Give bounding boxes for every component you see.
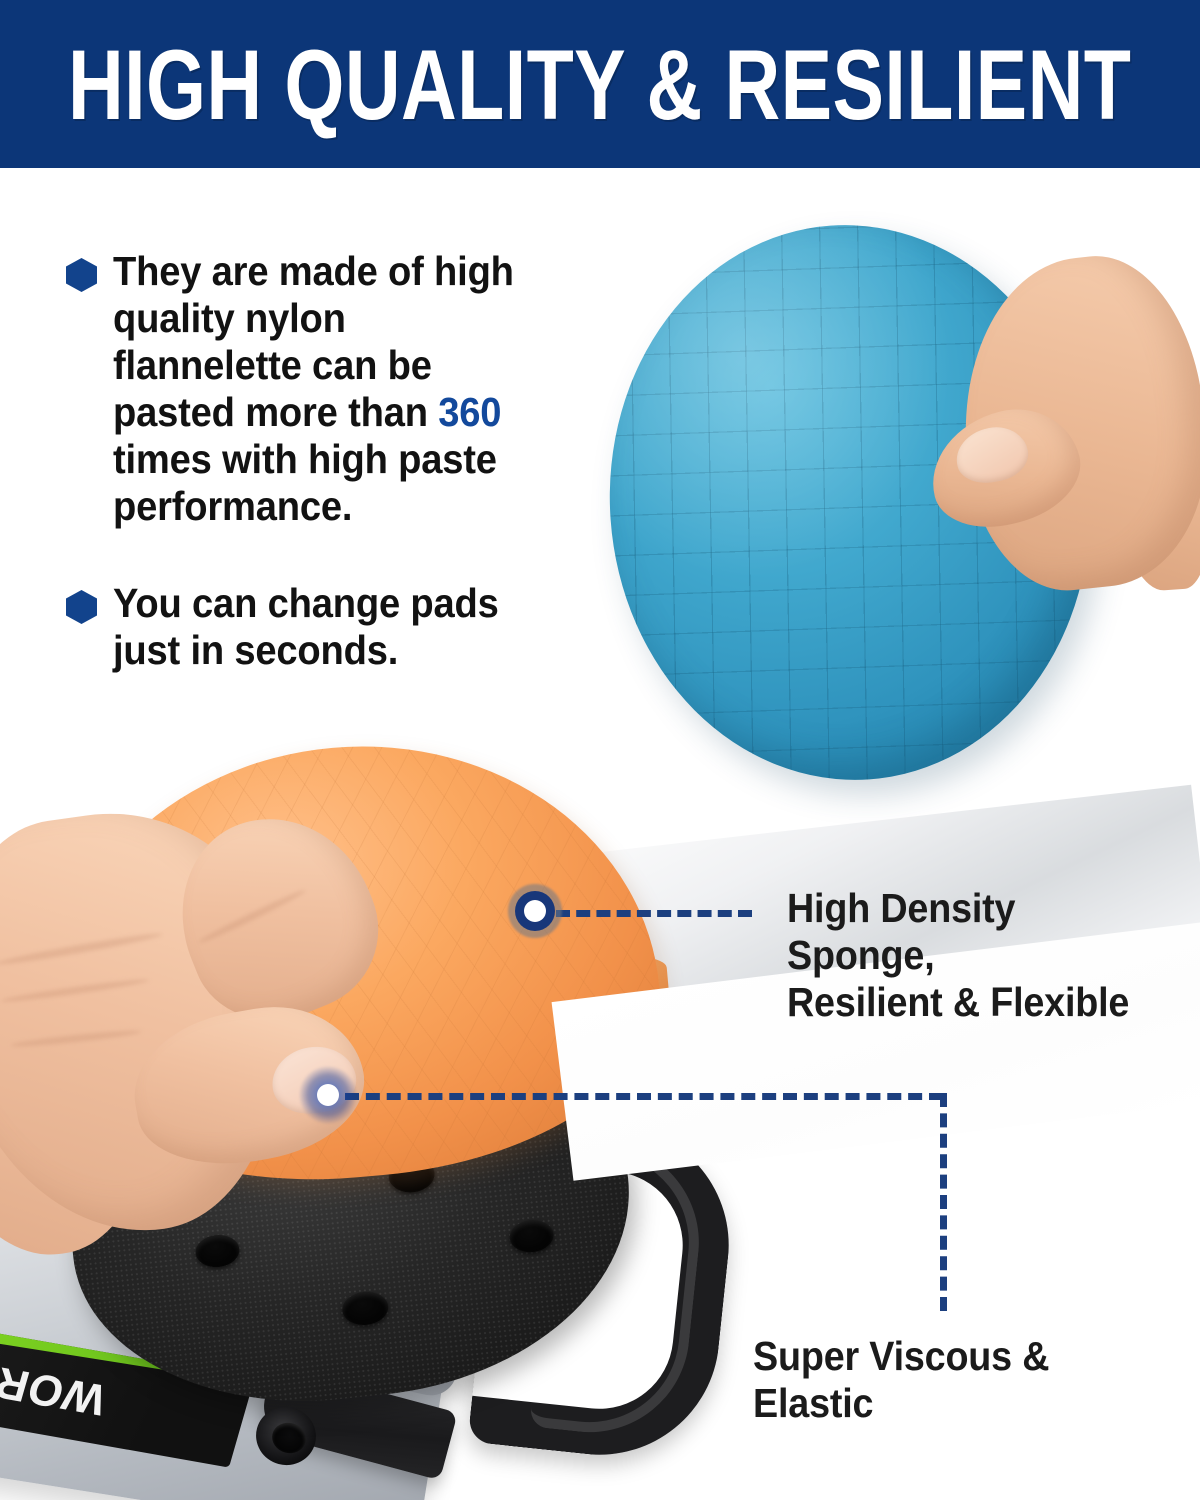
- bullet-1-highlight: 360: [438, 389, 501, 435]
- plate-vent-hole: [341, 1290, 390, 1328]
- bullet-text-1: They are made of high quality nylon flan…: [113, 248, 534, 530]
- page-title: HIGH QUALITY & RESILIENT: [68, 35, 1131, 134]
- callout-1-marker-core: [524, 900, 546, 922]
- hexagon-bullet-icon: [66, 590, 97, 624]
- callout-2-line-1: Super Viscous & Elastic: [753, 1333, 1164, 1427]
- header-banner: HIGH QUALITY & RESILIENT: [0, 0, 1200, 168]
- callout-1-line-1: High Density Sponge,: [787, 885, 1167, 979]
- list-item: They are made of high quality nylon flan…: [66, 248, 566, 530]
- plate-vent-hole: [194, 1233, 241, 1269]
- plate-vent-hole: [508, 1218, 555, 1254]
- callout-2-leader-vertical: [940, 1093, 947, 1311]
- hexagon-bullet-icon: [66, 258, 97, 292]
- callout-1-line-2: Resilient & Flexible: [787, 979, 1167, 1026]
- feature-bullet-list: They are made of high quality nylon flan…: [66, 248, 566, 724]
- bullet-text-2: You can change pads just in seconds.: [113, 580, 534, 674]
- infographic-page: HIGH QUALITY & RESILIENT They are made o…: [0, 0, 1200, 1500]
- bullet-1-text-after: times with high paste performance.: [113, 436, 497, 529]
- callout-1-label: High Density Sponge, Resilient & Flexibl…: [787, 885, 1167, 1026]
- callout-2-marker-core: [317, 1084, 339, 1106]
- list-item: You can change pads just in seconds.: [66, 580, 566, 674]
- callout-2-label: Super Viscous & Elastic: [753, 1333, 1164, 1427]
- callout-1-leader-line: [556, 910, 752, 917]
- callout-2-leader-horizontal: [345, 1093, 943, 1100]
